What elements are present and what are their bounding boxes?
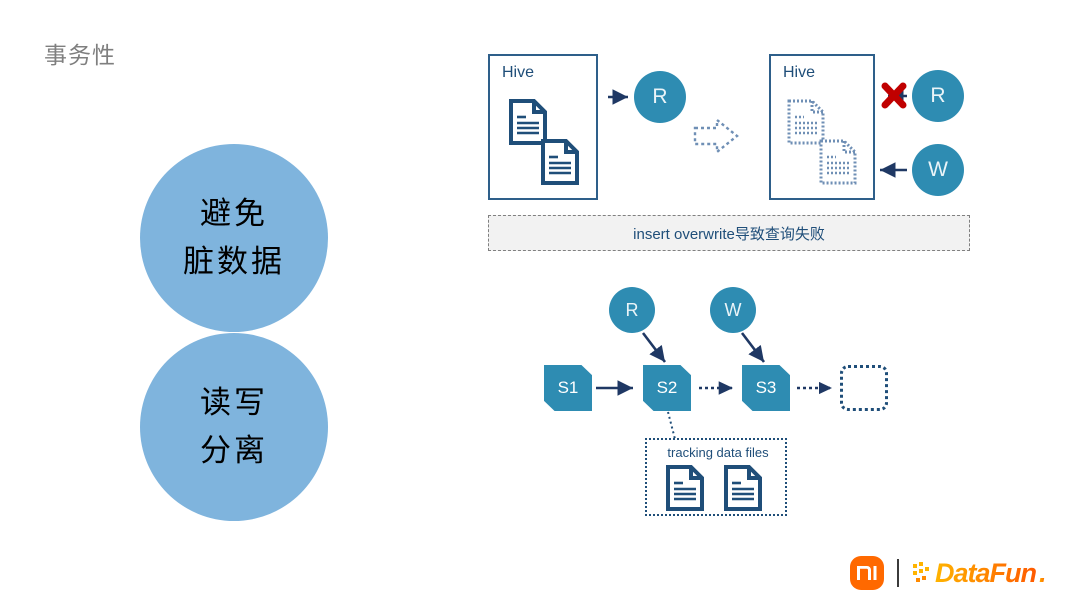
datafun-wordmark: DataFun	[935, 558, 1036, 589]
snapshot-s2[interactable]: S2	[643, 365, 691, 411]
reader-node[interactable]: R	[609, 287, 655, 333]
snapshot-s3[interactable]: S3	[742, 365, 790, 411]
snapshot-label: S1	[558, 378, 579, 398]
document-icon-ghost	[818, 138, 858, 186]
concept-circle-read-write-split[interactable]: 读写 分离	[140, 333, 328, 521]
node-label: W	[725, 300, 742, 321]
slide-canvas: 事务性 避免 脏数据 读写 分离 Hive R	[0, 0, 1080, 608]
tracking-data-files-callout: tracking data files	[645, 438, 787, 516]
read-node-after[interactable]: R	[912, 70, 964, 122]
datafun-logo: DataFun .	[912, 558, 1046, 589]
document-icon	[723, 464, 763, 512]
document-icon	[540, 138, 580, 186]
callout-label: tracking data files	[647, 445, 789, 460]
node-label: R	[626, 300, 639, 321]
dotted-right-arrow-icon	[695, 120, 737, 152]
concept-circle-avoid-dirty-data[interactable]: 避免 脏数据	[140, 144, 328, 332]
datafun-dots-icon	[912, 560, 932, 586]
blocked-x-icon	[885, 86, 903, 105]
mi-mark-icon	[856, 564, 878, 582]
logo-divider	[897, 559, 899, 587]
hive-panel-label: Hive	[502, 64, 534, 82]
page-title: 事务性	[44, 36, 116, 70]
insert-overwrite-caption: insert overwrite导致查询失败	[488, 215, 970, 251]
snapshot-label: S2	[657, 378, 678, 398]
concept-circle-line-1: 读写	[200, 379, 268, 427]
hive-panel-label: Hive	[783, 64, 815, 82]
snapshot-placeholder[interactable]	[840, 365, 888, 411]
document-icon	[665, 464, 705, 512]
concept-circle-line-2: 分离	[200, 427, 268, 475]
read-node-before[interactable]: R	[634, 71, 686, 123]
concept-circle-line-1: 避免	[200, 190, 268, 238]
xiaomi-logo-icon	[850, 556, 884, 590]
snapshot-label: S3	[756, 378, 777, 398]
node-label: R	[652, 85, 667, 109]
node-label: R	[930, 84, 945, 108]
footer-logos: DataFun .	[850, 556, 1046, 590]
writer-node[interactable]: W	[710, 287, 756, 333]
node-label: W	[928, 158, 948, 182]
datafun-period: .	[1039, 558, 1046, 589]
concept-circle-line-2: 脏数据	[183, 238, 285, 286]
caption-text: insert overwrite导致查询失败	[633, 223, 825, 244]
write-node-after[interactable]: W	[912, 144, 964, 196]
snapshot-s1[interactable]: S1	[544, 365, 592, 411]
